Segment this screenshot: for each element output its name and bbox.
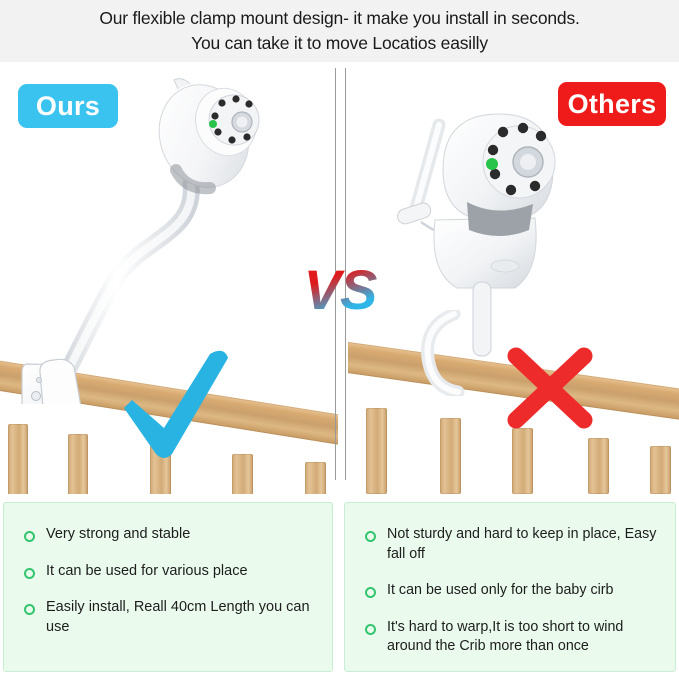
badge-others: Others — [558, 82, 666, 126]
crib-slat — [366, 408, 387, 494]
crib-slat — [588, 438, 609, 494]
bullet-dot-icon — [24, 531, 35, 542]
bullet-dot-icon — [24, 604, 35, 615]
crib-slat — [512, 428, 533, 494]
features-panel-ours: Very strong and stable It can be used fo… — [3, 502, 333, 672]
product-comparison-image: Our flexible clamp mount design- it make… — [0, 0, 679, 678]
short-strap-bracket — [418, 310, 508, 396]
camera-antenna — [396, 125, 445, 234]
list-item: It's hard to warp,It is too short to win… — [357, 618, 661, 657]
list-item: Easily install, Reall 40cm Length you ca… — [16, 598, 318, 637]
list-item: Not sturdy and hard to keep in place, Ea… — [357, 525, 661, 564]
clamp-jaw — [22, 359, 81, 404]
camera-head — [443, 114, 555, 236]
comparison-stage: Ours Others VS — [0, 62, 679, 494]
features-panel-others: Not sturdy and hard to keep in place, Ea… — [344, 502, 676, 672]
feature-text: Easily install, Reall 40cm Length you ca… — [46, 598, 318, 637]
feature-text: It can be used for various place — [46, 562, 248, 582]
camera-head — [146, 74, 265, 199]
header-line-1: Our flexible clamp mount design- it make… — [99, 6, 579, 31]
crib-slat — [650, 446, 671, 494]
crib-slat — [232, 454, 253, 494]
list-item: Very strong and stable — [16, 525, 318, 545]
header-banner: Our flexible clamp mount design- it make… — [0, 0, 679, 62]
feature-text: It can be used only for the baby cirb — [387, 581, 614, 601]
feature-text: Not sturdy and hard to keep in place, Ea… — [387, 525, 661, 564]
header-line-2: You can take it to move Locatios easilly — [191, 31, 488, 56]
list-item: It can be used only for the baby cirb — [357, 581, 661, 601]
crib-slat — [305, 462, 326, 494]
badge-ours: Ours — [18, 84, 118, 128]
feature-text: Very strong and stable — [46, 525, 190, 545]
status-led-green — [209, 120, 217, 128]
crib-slat — [68, 434, 88, 494]
bullet-dot-icon — [365, 587, 376, 598]
badge-ours-label: Ours — [36, 91, 100, 122]
bullet-dot-icon — [365, 531, 376, 542]
crib-slat — [8, 424, 28, 494]
feature-text: It's hard to warp,It is too short to win… — [387, 618, 661, 657]
status-led-green — [486, 158, 498, 170]
crib-slat — [440, 418, 461, 494]
bullet-dot-icon — [365, 624, 376, 635]
bullet-dot-icon — [24, 568, 35, 579]
badge-others-label: Others — [568, 89, 657, 120]
list-item: It can be used for various place — [16, 562, 318, 582]
check-mark-icon — [112, 344, 234, 466]
cross-mark-icon — [503, 345, 597, 431]
vs-label: VS — [279, 258, 401, 320]
